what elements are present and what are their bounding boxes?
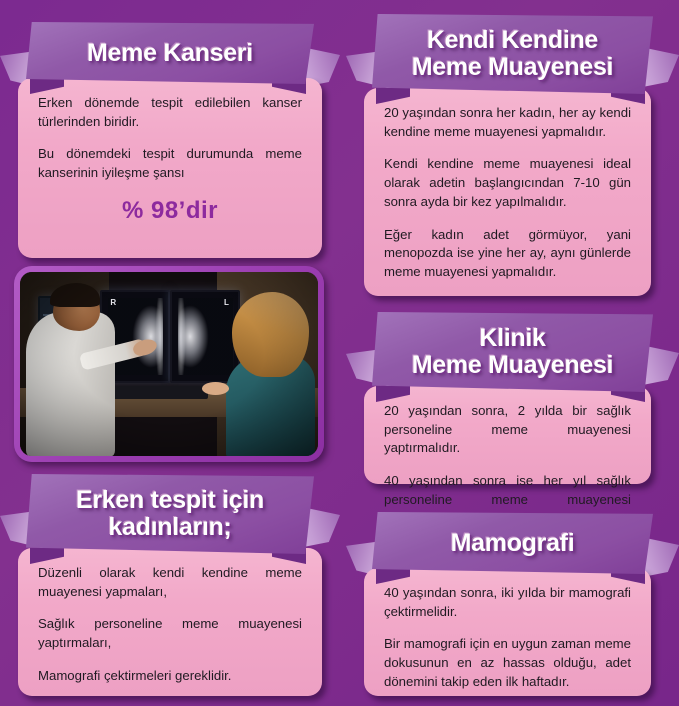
paragraph: 40 yaşından sonra, iki yılda bir mamogra… bbox=[384, 584, 631, 621]
panel-mammography: Mamografi 40 yaşından sonra, iki yılda b… bbox=[346, 512, 679, 696]
statistic-highlight: % 98’dir bbox=[38, 197, 302, 225]
banner-clinical-exam: Klinik Meme Muayenesi bbox=[346, 312, 679, 392]
banner-plate: Erken tespit için kadınların; bbox=[26, 474, 314, 554]
photo-vignette bbox=[20, 272, 318, 456]
paragraph: Kendi kendine meme muayenesi ideal olara… bbox=[384, 155, 631, 211]
panel-self-exam: Kendi Kendine Meme Muayenesi 20 yaşından… bbox=[346, 14, 679, 296]
banner-early-detection: Erken tespit için kadınların; bbox=[0, 474, 340, 554]
paragraph: 20 yaşından sonra, 2 yılda bir sağlık pe… bbox=[384, 402, 631, 458]
panel-title-mammography: Mamografi bbox=[443, 530, 583, 557]
infographic-poster: Meme Kanseri Erken dönemde tespit edileb… bbox=[0, 0, 679, 706]
card-mammography: 40 yaşından sonra, iki yılda bir mamogra… bbox=[364, 568, 651, 696]
banner-plate: Klinik Meme Muayenesi bbox=[372, 312, 653, 392]
panel-clinical-exam: Klinik Meme Muayenesi 20 yaşından sonra,… bbox=[346, 312, 679, 484]
paragraph: Bir mamografi için en uygun zaman meme d… bbox=[384, 635, 631, 691]
card-early-detection: Düzenli olarak kendi kendine meme muayen… bbox=[18, 548, 322, 696]
banner-breast-cancer: Meme Kanseri bbox=[0, 22, 340, 84]
banner-mammography: Mamografi bbox=[346, 512, 679, 574]
panel-title-early-detection: Erken tespit için kadınların; bbox=[68, 487, 272, 541]
paragraph: 20 yaşından sonra her kadın, her ay kend… bbox=[384, 104, 631, 141]
panel-title-breast-cancer: Meme Kanseri bbox=[79, 40, 261, 67]
paragraph: Eğer kadın adet görmüyor, yani menopozda… bbox=[384, 226, 631, 282]
paragraph: Erken dönemde tespit edilebilen kanser t… bbox=[38, 94, 302, 131]
banner-plate: Mamografi bbox=[372, 512, 653, 574]
photo-frame: R L bbox=[14, 266, 324, 462]
banner-plate: Kendi Kendine Meme Muayenesi bbox=[372, 14, 653, 94]
card-breast-cancer: Erken dönemde tespit edilebilen kanser t… bbox=[18, 78, 322, 258]
panel-title-self-exam: Kendi Kendine Meme Muayenesi bbox=[404, 27, 621, 81]
panel-title-clinical-exam: Klinik Meme Muayenesi bbox=[404, 325, 621, 379]
paragraph: Bu dönemdeki tespit durumunda meme kanse… bbox=[38, 145, 302, 182]
card-self-exam: 20 yaşından sonra her kadın, her ay kend… bbox=[364, 88, 651, 296]
clinic-photo: R L bbox=[20, 272, 318, 456]
panel-early-detection: Erken tespit için kadınların; Düzenli ol… bbox=[0, 474, 340, 696]
banner-plate: Meme Kanseri bbox=[26, 22, 314, 84]
paragraph: Mamografi çektirmeleri gereklidir. bbox=[38, 667, 302, 686]
panel-breast-cancer: Meme Kanseri Erken dönemde tespit edileb… bbox=[0, 22, 340, 258]
card-clinical-exam: 20 yaşından sonra, 2 yılda bir sağlık pe… bbox=[364, 386, 651, 484]
banner-self-exam: Kendi Kendine Meme Muayenesi bbox=[346, 14, 679, 94]
paragraph: Sağlık personeline meme muayenesi yaptır… bbox=[38, 615, 302, 652]
paragraph: Düzenli olarak kendi kendine meme muayen… bbox=[38, 564, 302, 601]
